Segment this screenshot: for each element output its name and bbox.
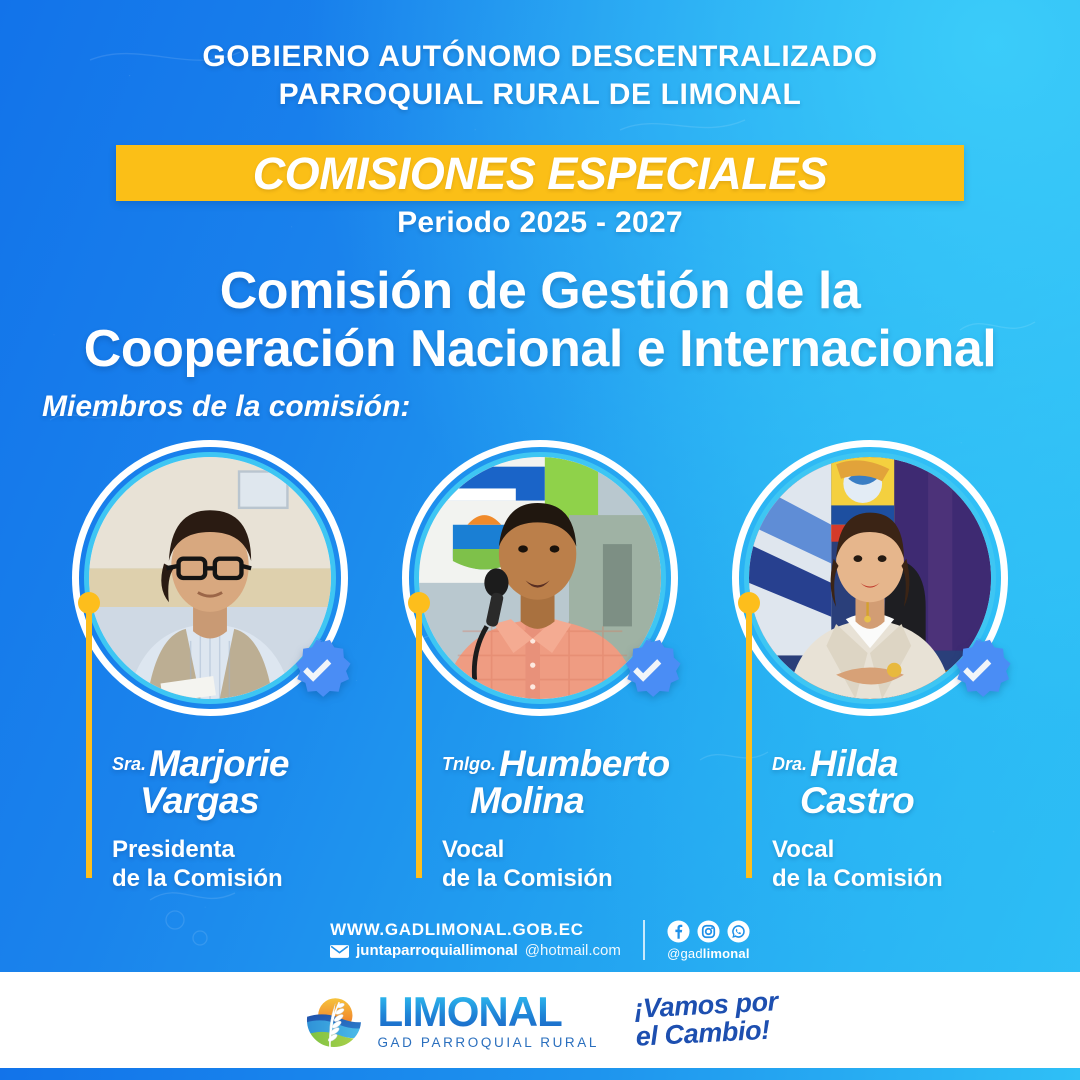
page-title-line-1: Comisión de Gestión de la [0,262,1080,320]
member-first-name: Hilda [810,743,898,784]
slogan: ¡Vamos por el Cambio! [634,989,780,1051]
member-honorific: Tnlgo. [442,754,496,774]
footer-bar: LIMONAL GAD PARROQUIAL RURAL ¡Vamos por … [0,972,1080,1068]
ribbon-text-special: ESPECIALES [547,148,827,199]
member-role-line-1: Presidenta [112,835,382,864]
period-label: Periodo 2025 - 2027 [0,206,1080,240]
member-honorific: Sra. [112,754,146,774]
website-url[interactable]: WWW.GADLIMONAL.GOB.EC [330,919,621,940]
member-honorific: Dra. [772,754,807,774]
member-name-line-1: Dra.Hilda [772,745,1042,782]
email-row[interactable]: juntaparroquiallimonal@hotmail.com [330,942,621,961]
member-photo-frame [72,440,348,716]
whatsapp-icon[interactable] [727,920,750,943]
member-first-name: Marjorie [149,743,289,784]
instagram-icon[interactable] [697,920,720,943]
social-icons [667,920,750,943]
page-title-line-2: Cooperación Nacional e Internacional [0,320,1080,378]
verified-badge-icon [938,634,1012,708]
social-block: @gadlimonal [667,920,750,961]
organization-heading: GOBIERNO AUTÓNOMO DESCENTRALIZADO PARROQ… [0,38,1080,115]
verified-badge-icon [608,634,682,708]
member-role-line-2: de la Comisión [112,864,382,893]
limonal-wordmark: LIMONAL GAD PARROQUIAL RURAL [377,991,599,1050]
envelope-icon [330,945,349,958]
member-name-block: Sra.Marjorie Vargas Presidenta de la Com… [112,745,382,894]
member-role-line-1: Vocal [442,835,712,864]
member-card: Sra.Marjorie Vargas Presidenta de la Com… [50,440,370,716]
member-photo-frame [732,440,1008,716]
limonal-emblem-icon [301,989,367,1051]
contact-divider [643,920,645,960]
member-role: Presidenta de la Comisión [112,835,382,894]
bottom-accent-strip [0,1068,1080,1080]
social-handle-name: limonal [703,946,750,961]
contact-details: WWW.GADLIMONAL.GOB.EC juntaparroquiallim… [330,919,621,961]
member-first-name: Humberto [499,743,670,784]
member-card: Dra.Hilda Castro Vocal de la Comisión [710,440,1030,716]
member-name-block: Tnlgo.Humberto Molina Vocal de la Comisi… [442,745,712,894]
email-domain: @hotmail.com [525,942,621,961]
member-role: Vocal de la Comisión [442,835,712,894]
commissions-ribbon-banner: COMISIONES ESPECIALES [116,145,964,201]
member-name-line-2: Castro [800,782,1042,819]
facebook-icon[interactable] [667,920,690,943]
member-name-block: Dra.Hilda Castro Vocal de la Comisión [772,745,1042,894]
limonal-logo: LIMONAL GAD PARROQUIAL RURAL [301,989,599,1051]
member-card: Tnlgo.Humberto Molina Vocal de la Comisi… [380,440,700,716]
brand-name: LIMONAL [377,991,599,1033]
member-role-line-2: de la Comisión [442,864,712,893]
social-handle: @gadlimonal [667,946,750,961]
member-role: Vocal de la Comisión [772,835,1042,894]
poster-canvas: GOBIERNO AUTÓNOMO DESCENTRALIZADO PARROQ… [0,0,1080,1080]
members-list: Sra.Marjorie Vargas Presidenta de la Com… [0,440,1080,716]
organization-line-1: GOBIERNO AUTÓNOMO DESCENTRALIZADO [0,38,1080,76]
ribbon-text-commissions: COMISIONES [253,148,548,199]
slogan-line-2: el Cambio! [635,1016,780,1051]
email-user: juntaparroquiallimonal [356,942,518,961]
organization-line-2: PARROQUIAL RURAL DE LIMONAL [0,76,1080,114]
members-section-label: Miembros de la comisión: [42,390,410,424]
member-role-line-2: de la Comisión [772,864,1042,893]
member-name-line-2: Vargas [140,782,382,819]
member-photo-frame [402,440,678,716]
page-title: Comisión de Gestión de la Cooperación Na… [0,262,1080,378]
contact-strip: WWW.GADLIMONAL.GOB.EC juntaparroquiallim… [0,919,1080,961]
verified-badge-icon [278,634,352,708]
member-name-line-2: Molina [470,782,712,819]
member-name-line-1: Sra.Marjorie [112,745,382,782]
member-role-line-1: Vocal [772,835,1042,864]
brand-subtitle: GAD PARROQUIAL RURAL [377,1036,599,1050]
member-name-line-1: Tnlgo.Humberto [442,745,712,782]
social-handle-prefix: @gad [667,946,703,961]
